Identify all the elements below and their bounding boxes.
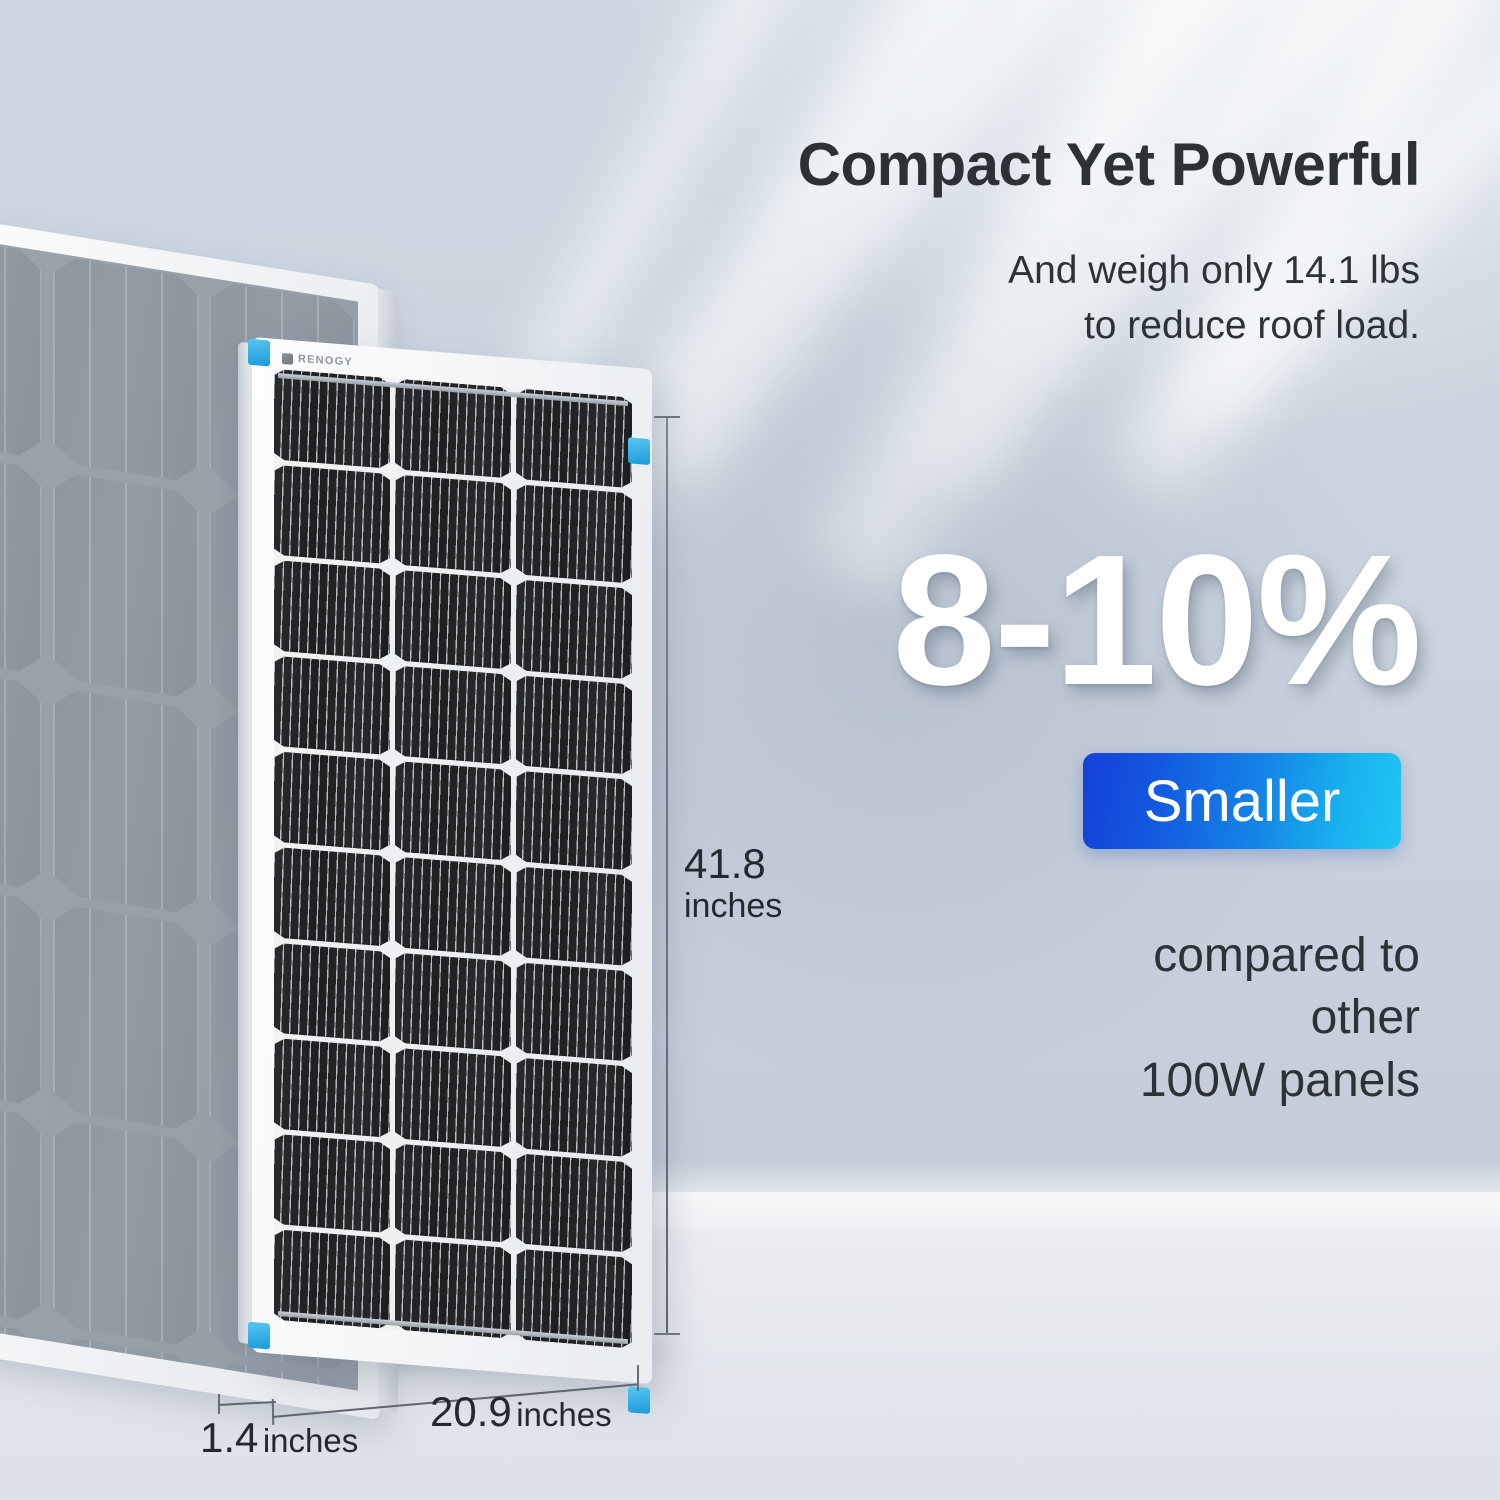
solar-cell: [395, 761, 511, 861]
height-unit: inches: [684, 887, 782, 925]
width-unit: inches: [516, 1396, 611, 1433]
depth-dimension-label: 1.4 inches: [200, 1414, 358, 1462]
solar-cell: [516, 1057, 632, 1157]
depth-dimension-cap-left: [218, 1394, 220, 1414]
solar-cell: [0, 878, 43, 1107]
solar-cell: [516, 962, 632, 1062]
solar-cell: [395, 856, 511, 956]
renogy-mark-icon: [282, 353, 293, 365]
solar-cell: [0, 230, 43, 459]
height-dimension-label: 41.8 inches: [684, 840, 782, 925]
corner-cap-bottom-right: [628, 1386, 650, 1414]
front-solar-panel: RENOGY RNG-100D-SS: [252, 337, 652, 1384]
solar-cell: [274, 942, 390, 1042]
solar-cell: [53, 255, 200, 484]
product-marketing-image: RENOGY RNG-100D-SS: [0, 0, 1500, 1500]
headline: Compact Yet Powerful: [560, 133, 1420, 198]
subheadline: And weigh only 14.1 lbs to reduce roof l…: [700, 243, 1420, 354]
solar-cell: [516, 866, 632, 966]
comparison-line-3: 100W panels: [640, 1050, 1420, 1112]
subheadline-line-1: And weigh only 14.1 lbs: [700, 243, 1420, 298]
solar-cell: [274, 751, 390, 851]
comparison-line-2: other: [640, 987, 1420, 1049]
width-dimension-label: 20.9 inches: [430, 1388, 612, 1436]
stat-percentage: 8-10%: [560, 528, 1420, 714]
solar-cell: [274, 464, 390, 564]
depth-value: 1.4: [200, 1414, 258, 1461]
solar-cell: [274, 1134, 390, 1234]
solar-cell: [53, 687, 200, 916]
front-panel-cell-grid: [274, 369, 632, 1349]
corner-cap-top-right: [628, 437, 650, 465]
subheadline-line-2: to reduce roof load.: [700, 298, 1420, 353]
comparison-line-1: compared to: [640, 925, 1420, 987]
corner-cap-top-left: [248, 339, 270, 367]
solar-cell: [0, 1094, 43, 1323]
solar-cell: [395, 474, 511, 574]
solar-cell: [274, 847, 390, 947]
height-dimension-cap-top: [654, 416, 680, 418]
smaller-badge-label: Smaller: [1144, 768, 1341, 835]
solar-cell: [516, 771, 632, 871]
solar-cell: [274, 1038, 390, 1138]
height-dimension-cap-bottom: [654, 1333, 680, 1335]
solar-cell: [395, 1143, 511, 1243]
depth-unit: inches: [263, 1422, 358, 1459]
solar-cell: [0, 662, 43, 891]
solar-cell: [53, 1119, 200, 1348]
solar-cell: [395, 952, 511, 1052]
solar-cell: [0, 446, 43, 675]
solar-cell: [516, 1153, 632, 1253]
front-panel-glass: [274, 369, 632, 1349]
height-value: 41.8: [684, 840, 782, 887]
width-dimension-cap-right: [637, 1365, 639, 1391]
width-value: 20.9: [430, 1388, 512, 1435]
smaller-badge: Smaller: [1083, 753, 1401, 849]
comparison-text: compared to other 100W panels: [640, 925, 1420, 1112]
solar-cell: [395, 570, 511, 670]
solar-cell: [53, 903, 200, 1132]
solar-cell: [395, 1048, 511, 1148]
solar-cell: [53, 471, 200, 700]
corner-cap-bottom-left: [248, 1322, 270, 1350]
solar-cell: [395, 665, 511, 765]
solar-cell: [274, 656, 390, 756]
solar-cell: [274, 560, 390, 660]
